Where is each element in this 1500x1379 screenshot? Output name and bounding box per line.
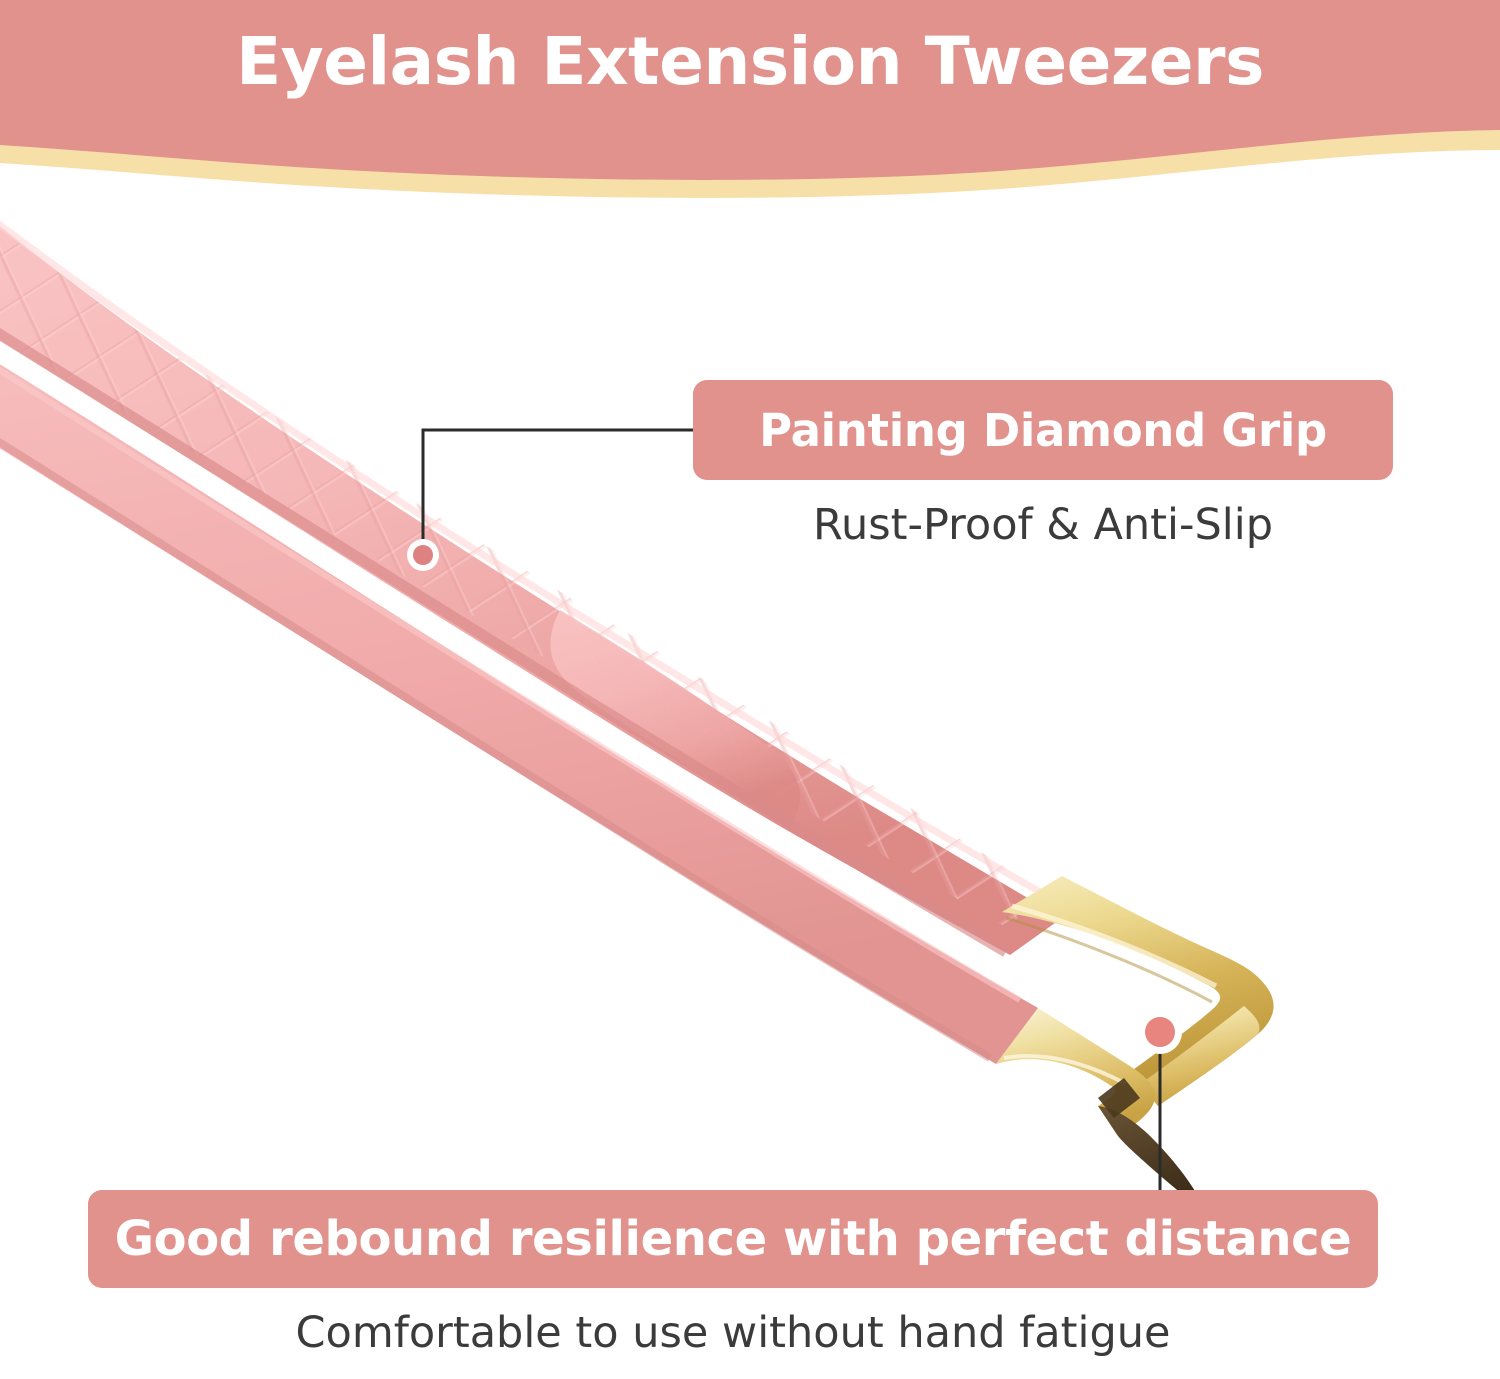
tweezers-illustration (0, 200, 1500, 1200)
callout-chip-painting-diamond-grip: Painting Diamond Grip (693, 380, 1393, 480)
tweezer-upper-arm (0, 210, 1062, 960)
product-image (0, 200, 1500, 1200)
callout-chip-good-rebound-resilience: Good rebound resilience with perfect dis… (88, 1190, 1378, 1288)
lower-tip-fine-point (1098, 1106, 1206, 1200)
page-title: Eyelash Extension Tweezers (0, 26, 1500, 99)
callout-subtitle-good-rebound-resilience: Comfortable to use without hand fatigue (88, 1308, 1378, 1358)
upper-arm-highlight (0, 210, 1040, 892)
header-banner: Eyelash Extension Tweezers (0, 0, 1500, 215)
tweezer-lower-gold-tip (996, 1008, 1206, 1200)
callout-subtitle-painting-diamond-grip: Rust-Proof & Anti-Slip (693, 500, 1393, 550)
product-infographic: Eyelash Extension Tweezers (0, 0, 1500, 1379)
